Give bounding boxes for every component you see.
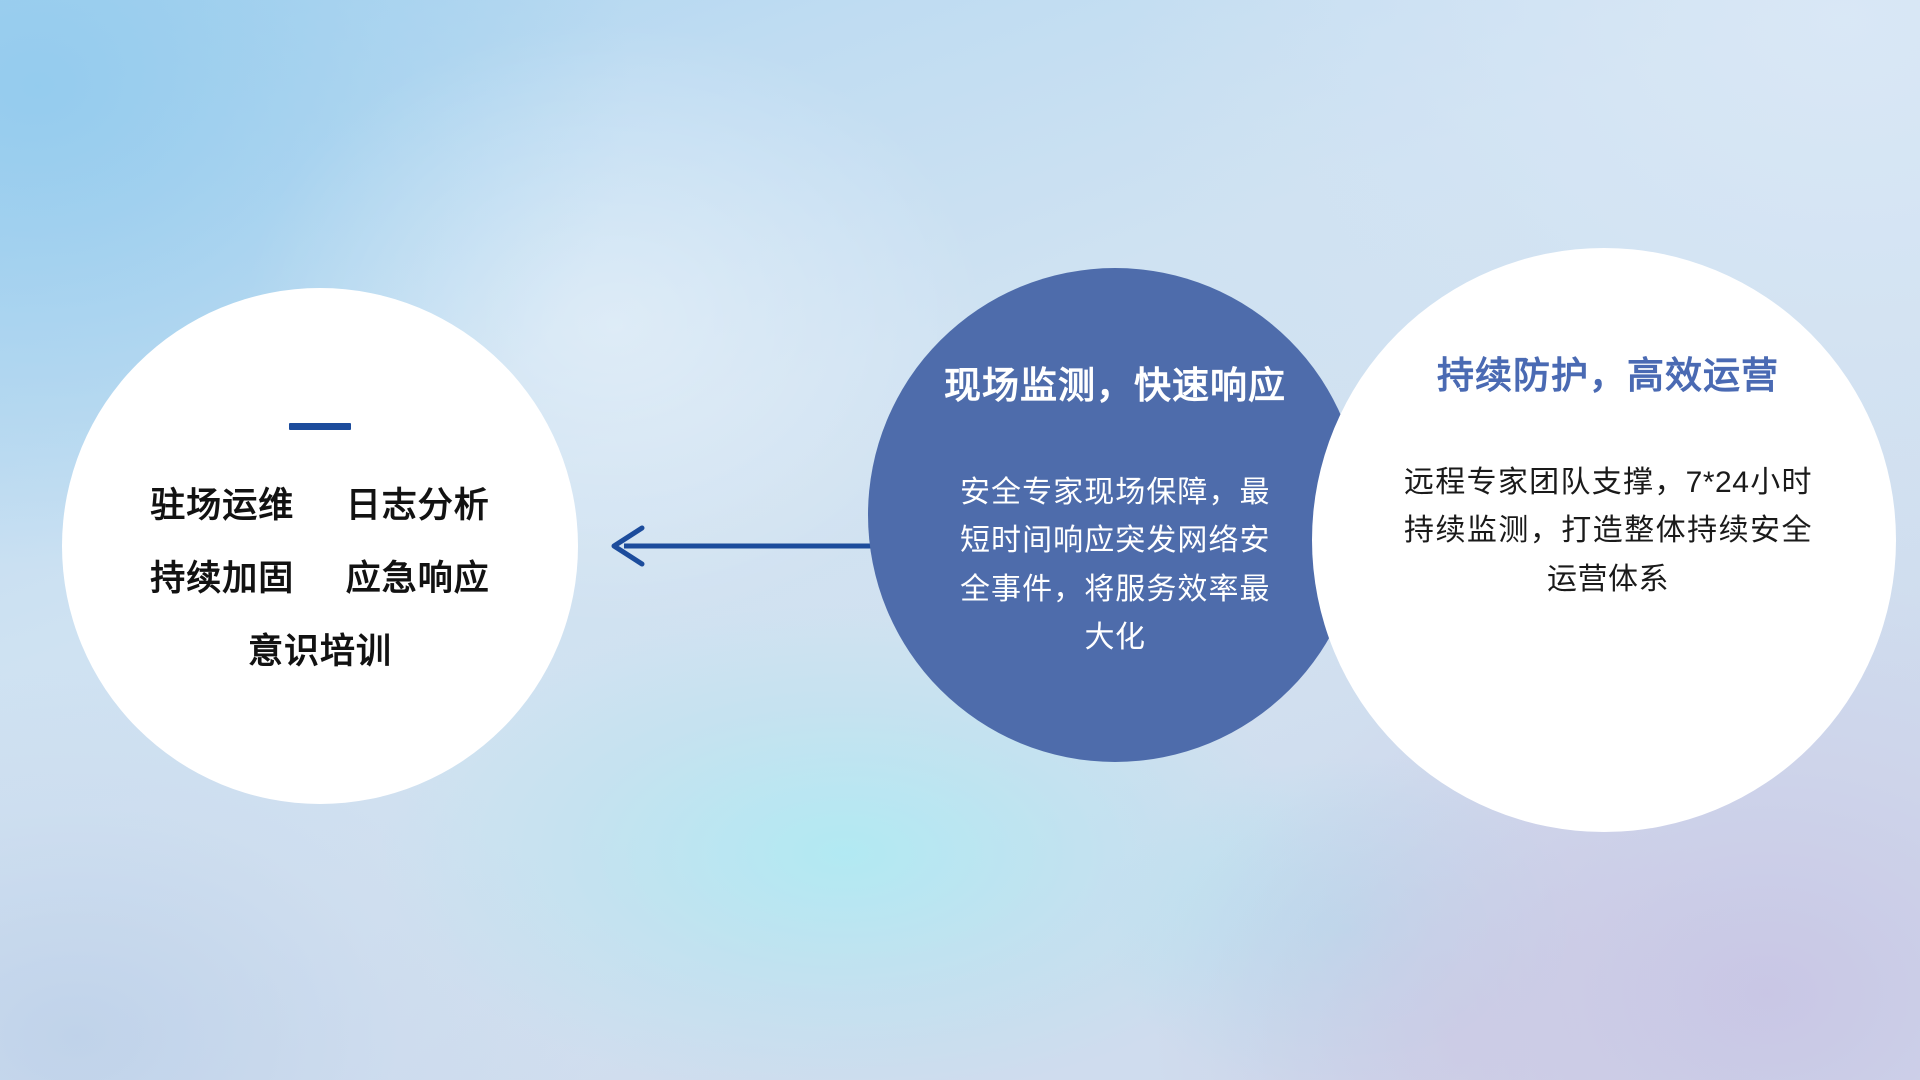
left-service-item-2: 日志分析 bbox=[346, 486, 490, 525]
right-circle-title: 持续防护，高效运营 bbox=[1437, 356, 1779, 397]
left-circle-content: 驻场运维 日志分析 持续加固 应急响应 意识培训 bbox=[62, 288, 578, 804]
left-service-item-1: 驻场运维 bbox=[150, 486, 294, 525]
right-circle-body: 远程专家团队支撑，7*24小时持续监测，打造整体持续安全运营体系 bbox=[1404, 459, 1812, 605]
flow-arrow-left bbox=[600, 520, 890, 572]
middle-circle-title: 现场监测，快速响应 bbox=[944, 366, 1286, 407]
left-divider-bar bbox=[289, 423, 351, 430]
middle-circle-content: 现场监测，快速响应 安全专家现场保障，最短时间响应突发网络安全事件，将服务效率最… bbox=[880, 268, 1350, 762]
left-service-row-2: 持续加固 应急响应 bbox=[150, 561, 490, 596]
left-service-item-4: 应急响应 bbox=[346, 559, 490, 598]
right-circle-content: 持续防护，高效运营 远程专家团队支撑，7*24小时持续监测，打造整体持续安全运营… bbox=[1338, 248, 1878, 832]
left-service-item-5: 意识培训 bbox=[248, 632, 392, 671]
left-service-row-3: 意识培训 bbox=[248, 634, 392, 669]
left-service-item-3: 持续加固 bbox=[150, 559, 294, 598]
left-service-row-1: 驻场运维 日志分析 bbox=[150, 488, 490, 523]
slide-canvas: 驻场运维 日志分析 持续加固 应急响应 意识培训 现场监测，快速响应 安全专家现… bbox=[0, 0, 1920, 1080]
middle-circle-body: 安全专家现场保障，最短时间响应突发网络安全事件，将服务效率最大化 bbox=[960, 469, 1270, 663]
